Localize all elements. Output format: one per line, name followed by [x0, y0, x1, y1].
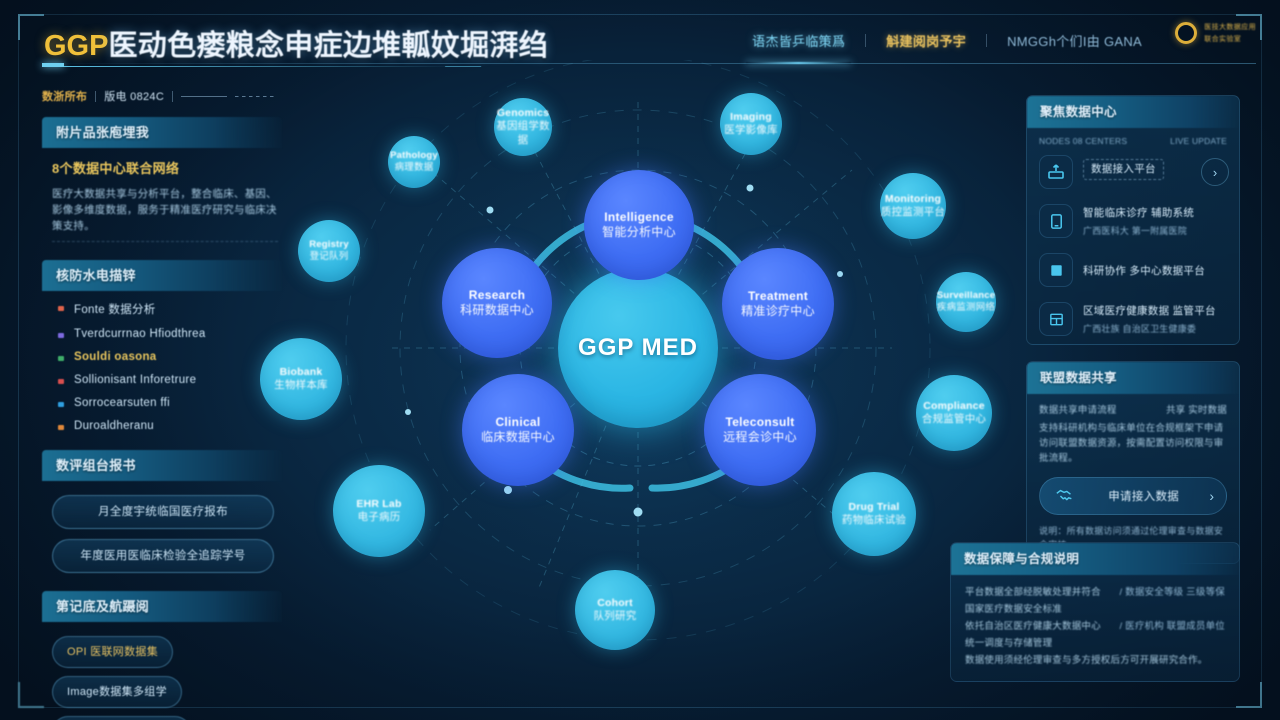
dataset-tag-2[interactable]: 多组学数据 Database: [52, 716, 191, 720]
graph-node-outer-1[interactable]: Imaging 医学影像库: [720, 93, 782, 155]
row-text: 区域医疗健康数据 监管平台 广西壮族 自治区卫生健康委: [1083, 301, 1229, 337]
graph-node-hub[interactable]: GGP MED: [558, 268, 718, 428]
sidebar-section-head-overview: 附片品张庖埋我: [42, 117, 282, 148]
page-title-accent: GGP: [44, 30, 108, 62]
graph-node-label-line1: Registry: [309, 239, 349, 251]
graph-node-outer-0[interactable]: Genomics 基因组学数据: [494, 98, 552, 156]
sidebar-section-head-datasets: 第记底及航蹑阅: [42, 591, 282, 622]
graph-node-label-line1: Teleconsult: [725, 415, 794, 430]
sidebar-section-head-capabilities: 核防水电描锌: [42, 260, 282, 291]
meta-right: LIVE UPDATE: [1170, 136, 1227, 146]
graph-node-label-line2: 精准诊疗中心: [741, 304, 815, 319]
note-left: 数据使用须经伦理审查与多方授权后方可开展研究合作。: [965, 652, 1208, 669]
graph-node-label-line2: 质控监测平台: [881, 206, 945, 219]
row-title: 数据接入平台: [1083, 159, 1164, 180]
graph-node-hub-label: GGP MED: [578, 333, 698, 364]
graph-node-label-line1: Intelligence: [604, 210, 674, 225]
note-left: 依托自治区医疗健康大数据中心统一调度与存储管理: [965, 618, 1109, 652]
chevron-right-icon[interactable]: ›: [1201, 158, 1229, 186]
brand-logo: 医技大数据应用 联合实验室: [1175, 22, 1256, 44]
row-text: 智能临床诊疗 辅助系统 广西医科大 第一附属医院: [1083, 203, 1229, 239]
graph-node-label-line2: 基因组学数据: [494, 120, 552, 147]
list-item-label: Duroaldheranu: [74, 420, 154, 432]
graph-node-outer-2[interactable]: Pathology 病理数据: [388, 136, 440, 188]
capability-list: Fonte 数据分析 Tverdcurrnao Hfiodthrea Sould…: [52, 301, 278, 432]
card-data-centers-meta: NODES 08 CENTERS LIVE UPDATE: [1027, 128, 1239, 148]
cta-label: 申请接入数据: [1087, 488, 1200, 504]
list-item[interactable]: 科研协作 多中心数据平台: [1027, 246, 1239, 294]
graph-node-label-line1: EHR Lab: [356, 498, 401, 511]
card-data-centers: 聚焦数据中心 NODES 08 CENTERS LIVE UPDATE 数据接入…: [1026, 95, 1240, 345]
square-panel-icon: [1039, 253, 1073, 287]
sidebar-panel-overview: 8个数据中心联合网络 医疗大数据共享与分析平台，整合临床、基因、影像多维度数据，…: [42, 158, 282, 242]
row-subtitle: 广西医科大 第一附属医院: [1083, 226, 1187, 236]
list-item[interactable]: Souldi oasona: [58, 351, 278, 363]
row-title: 智能临床诊疗 辅助系统: [1083, 207, 1194, 219]
brand-line-2: 联合实验室: [1204, 34, 1256, 44]
graph-node-label-line1: Imaging: [730, 111, 772, 124]
card-paragraph: 支持科研机构与临床单位在合规框架下申请访问联盟数据资源，按需配置访问权限与审批流…: [1039, 421, 1227, 466]
dataset-tag-grid: OPI 医联网数据集 Image数据集多组学 多组学数据 Database GH…: [52, 636, 278, 720]
list-item-label: Souldi oasona: [74, 351, 157, 363]
graph-node-label-line2: 合规监管中心: [922, 413, 986, 426]
title-underline: [42, 66, 462, 67]
right-sidebar: 聚焦数据中心 NODES 08 CENTERS LIVE UPDATE 数据接入…: [1026, 95, 1240, 580]
graph-node-label-line2: 临床数据中心: [481, 430, 555, 445]
row-title: 区域医疗健康数据 监管平台: [1083, 305, 1216, 317]
list-item-label: Fonte 数据分析: [74, 304, 156, 316]
graph-node-label-line2: 登记队列: [310, 251, 349, 263]
row-text: 数据接入平台: [1083, 159, 1191, 185]
note-left: 平台数据全部经脱敏处理并符合国家医疗数据安全标准: [965, 584, 1109, 618]
graph-node-outer-3[interactable]: Registry 登记队列: [298, 220, 360, 282]
list-item[interactable]: Sollionisant Inforetrure: [58, 374, 278, 386]
note-right: / 医疗机构 联盟成员单位: [1119, 618, 1225, 652]
handshake-icon: [1052, 483, 1078, 509]
chevron-right-icon: ›: [1209, 488, 1214, 504]
card-data-sharing-title: 联盟数据共享: [1027, 362, 1239, 394]
overview-paragraph: 医疗大数据共享与分析平台，整合临床、基因、影像多维度数据，服务于精准医疗研究与临…: [52, 186, 278, 242]
graph-node-label-line1: Drug Trial: [848, 501, 899, 514]
page-header: GGP医动色瘘粮念申症边堆軱妏堀湃绉 语杰皆乒临策爲 斛建阅岗予宇 NMGGh个…: [0, 0, 1280, 74]
note-line: 依托自治区医疗健康大数据中心统一调度与存储管理 / 医疗机构 联盟成员单位: [965, 618, 1225, 652]
bullet-dot-icon: [58, 306, 64, 311]
report-pill-0[interactable]: 月全度宇统临国医疗报布: [52, 495, 274, 529]
graph-node-label-line2: 科研数据中心: [460, 303, 534, 318]
graph-node-label-line1: Biobank: [280, 366, 323, 379]
graph-node-label-line2: 病理数据: [395, 162, 434, 174]
list-item[interactable]: 智能临床诊疗 辅助系统 广西医科大 第一附属医院: [1027, 196, 1239, 246]
nav-item-2[interactable]: NMGGh个们I由 GANA: [987, 27, 1162, 54]
graph-node-outer-10[interactable]: Monitoring 质控监测平台: [880, 173, 946, 239]
meta-right: 共享 实时数据: [1166, 403, 1227, 418]
row-title: 科研协作 多中心数据平台: [1083, 265, 1205, 277]
report-pill-1[interactable]: 年度医用医临床检验全追踪学号: [52, 539, 274, 573]
nav-item-0[interactable]: 语杰皆乒临策爲: [732, 27, 865, 54]
graph-node-label-line2: 生物样本库: [274, 379, 328, 392]
row-text: 科研协作 多中心数据平台: [1083, 261, 1229, 279]
breadcrumb-rule: [181, 96, 227, 97]
note-right: / 数据安全等级 三级等保: [1119, 584, 1225, 618]
nav-item-1[interactable]: 斛建阅岗予宇: [866, 27, 986, 54]
card-compliance-note: 数据保障与合规说明 平台数据全部经脱敏处理并符合国家医疗数据安全标准 / 数据安…: [950, 542, 1240, 682]
graph-node-label-line1: Pathology: [390, 150, 438, 162]
card-data-centers-title: 聚焦数据中心: [1027, 96, 1239, 128]
card-meta-row: 数据共享申请流程 共享 实时数据: [1039, 403, 1227, 418]
graph-node-inner-2[interactable]: Research 科研数据中心: [442, 248, 552, 358]
graph-node-outer-9[interactable]: Surveillance 疾病监测网络: [936, 272, 996, 332]
header-divider: [42, 63, 1256, 64]
list-item[interactable]: Duroaldheranu: [58, 420, 278, 432]
bullet-dot-icon: [58, 379, 64, 384]
dataset-tag-1[interactable]: Image数据集多组学: [52, 676, 182, 708]
breadcrumb-item-1[interactable]: 版电 0824C: [104, 88, 164, 104]
graph-node-label-line1: Clinical: [495, 415, 540, 430]
breadcrumb-divider: [172, 91, 173, 102]
graph-node-label-line1: Cohort: [597, 597, 633, 610]
sidebar-panel-capabilities: Fonte 数据分析 Tverdcurrnao Hfiodthrea Sould…: [42, 301, 282, 432]
graph-node-outer-7[interactable]: Drug Trial 药物临床试验: [832, 472, 916, 556]
graph-node-label-line2: 队列研究: [594, 610, 637, 623]
o-logo-icon: [1175, 22, 1197, 44]
breadcrumb-dots: [235, 96, 277, 97]
graph-node-label-line1: Compliance: [923, 400, 985, 413]
graph-node-inner-3[interactable]: Clinical 临床数据中心: [462, 374, 574, 486]
main-nav: 语杰皆乒临策爲 斛建阅岗予宇 NMGGh个们I由 GANA: [732, 27, 1162, 54]
note-line: 数据使用须经伦理审查与多方授权后方可开展研究合作。: [965, 652, 1225, 669]
list-item[interactable]: 数据接入平台 ›: [1027, 148, 1239, 196]
graph-node-label-line1: Surveillance: [937, 290, 995, 302]
data-upload-icon: [1039, 155, 1073, 189]
sidebar-panel-reports: 月全度宇统临国医疗报布 年度医用医临床检验全追踪学号: [42, 491, 282, 573]
graph-node-label-line1: Genomics: [497, 107, 549, 120]
card-data-sharing-body: 数据共享申请流程 共享 实时数据 支持科研机构与临床单位在合规框架下申请访问联盟…: [1027, 394, 1239, 466]
list-item[interactable]: 区域医疗健康数据 监管平台 广西壮族 自治区卫生健康委: [1027, 294, 1239, 344]
graph-node-inner-1[interactable]: Treatment 精准诊疗中心: [722, 248, 834, 360]
breadcrumb: 数浙所布 版电 0824C: [42, 88, 282, 104]
frame-corner-bottom-left: [18, 682, 44, 708]
network-graph: GGP MED Intelligence 智能分析中心 Treatment 精准…: [280, 60, 980, 700]
card-data-sharing: 联盟数据共享 数据共享申请流程 共享 实时数据 支持科研机构与临床单位在合规框架…: [1026, 361, 1240, 564]
brand-line-1: 医技大数据应用: [1204, 22, 1256, 32]
graph-node-inner-4[interactable]: Teleconsult 远程会诊中心: [704, 374, 816, 486]
list-item-label: Sorrocearsuten ffi: [74, 397, 170, 409]
bullet-dot-icon: [58, 402, 64, 407]
bullet-dot-icon: [58, 333, 64, 338]
breadcrumb-divider: [95, 91, 96, 102]
frame-corner-bottom-right: [1236, 682, 1262, 708]
bullet-dot-icon: [58, 425, 64, 430]
graph-node-label-line2: 电子病历: [358, 511, 401, 524]
meta-left: NODES 08 CENTERS: [1039, 136, 1127, 146]
card-compliance-title: 数据保障与合规说明: [951, 543, 1239, 575]
graph-node-outer-8[interactable]: Compliance 合规监管中心: [916, 375, 992, 451]
dashboard-layout-icon: [1039, 302, 1073, 336]
row-subtitle: 广西壮族 自治区卫生健康委: [1083, 324, 1196, 334]
list-item[interactable]: Fonte 数据分析: [58, 301, 278, 317]
card-compliance-body: 平台数据全部经脱敏处理并符合国家医疗数据安全标准 / 数据安全等级 三级等保 依…: [951, 575, 1239, 681]
breadcrumb-item-0[interactable]: 数浙所布: [42, 88, 87, 104]
dashboard-root: GGP医动色瘘粮念申症边堆軱妏堀湃绉 语杰皆乒临策爲 斛建阅岗予宇 NMGGh个…: [0, 0, 1280, 720]
graph-node-label-line2: 疾病监测网络: [937, 302, 995, 314]
graph-node-inner-0[interactable]: Intelligence 智能分析中心: [584, 170, 694, 280]
graph-node-outer-6[interactable]: Cohort 队列研究: [575, 570, 655, 650]
overview-lead: 8个数据中心联合网络: [52, 158, 278, 177]
list-item[interactable]: Sorrocearsuten ffi: [58, 397, 278, 409]
meta-left: 数据共享申请流程: [1039, 403, 1117, 418]
sidebar-section-head-reports: 数评组台报书: [42, 450, 282, 481]
graph-node-label-line1: Research: [469, 288, 525, 303]
sidebar-panel-datasets: OPI 医联网数据集 Image数据集多组学 多组学数据 Database GH…: [42, 632, 282, 720]
graph-node-label-line1: Treatment: [748, 289, 808, 304]
graph-node-label-line1: Monitoring: [885, 193, 941, 206]
graph-node-label-line2: 医学影像库: [724, 124, 778, 137]
graph-node-label-line2: 智能分析中心: [602, 225, 676, 240]
left-sidebar: 数浙所布 版电 0824C 附片品张庖埋我 8个数据中心联合网络 医疗大数据共享…: [42, 88, 282, 720]
list-item-label: Tverdcurrnao Hfiodthrea: [74, 328, 206, 340]
dataset-tag-0[interactable]: OPI 医联网数据集: [52, 636, 173, 668]
graph-node-label-line2: 远程会诊中心: [723, 430, 797, 445]
graph-node-outer-5[interactable]: EHR Lab 电子病历: [333, 465, 425, 557]
graph-node-label-line2: 药物临床试验: [842, 514, 906, 527]
list-item-label: Sollionisant Inforetrure: [74, 374, 196, 386]
bullet-dot-icon: [58, 356, 64, 361]
apply-data-access-button[interactable]: 申请接入数据 ›: [1039, 477, 1227, 515]
tablet-device-icon: [1039, 204, 1073, 238]
note-line: 平台数据全部经脱敏处理并符合国家医疗数据安全标准 / 数据安全等级 三级等保: [965, 584, 1225, 618]
list-item[interactable]: Tverdcurrnao Hfiodthrea: [58, 328, 278, 340]
brand-text: 医技大数据应用 联合实验室: [1204, 22, 1256, 44]
